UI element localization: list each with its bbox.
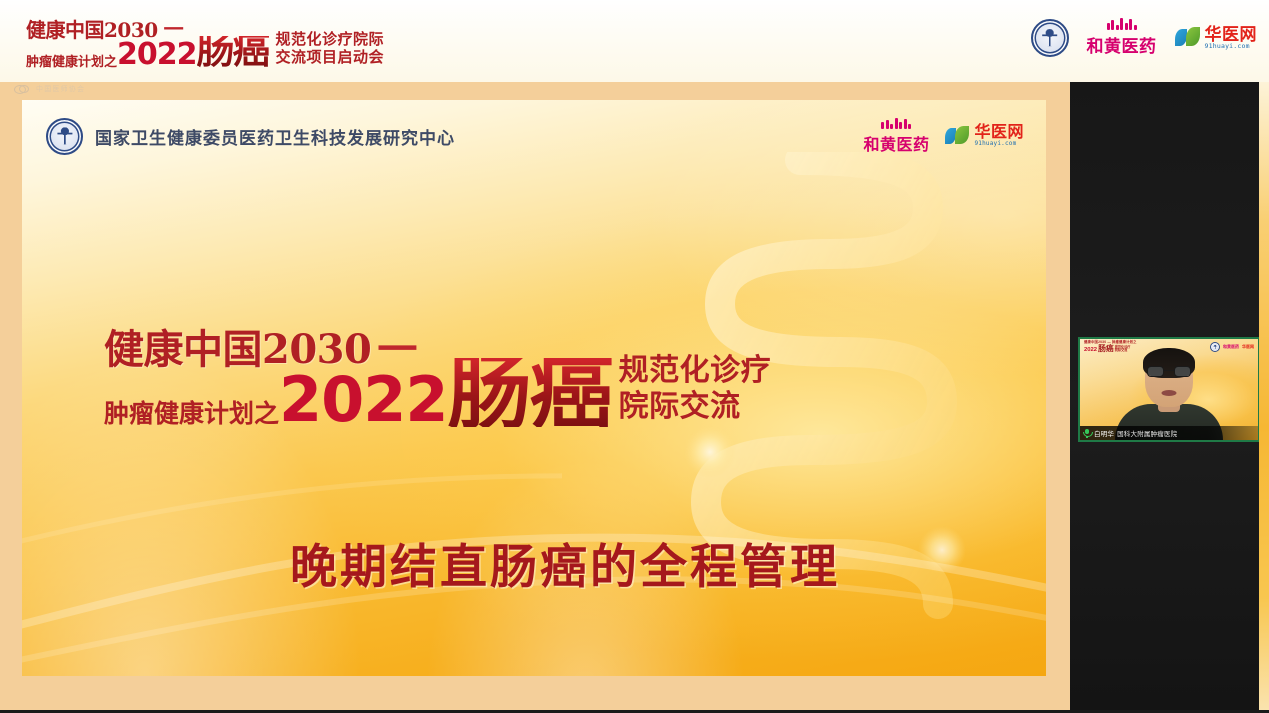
nhc-emblem-icon (1031, 19, 1069, 57)
speaker-mouth (1162, 390, 1177, 396)
video-banner-keyword: 肠癌 (1098, 345, 1114, 353)
sidebar-accent-strip (1259, 82, 1269, 710)
huayi-leaf-icon (945, 126, 970, 147)
wordmark-sub1: 规范化诊疗院际 (276, 31, 385, 49)
screenshare-stage[interactable]: 中国医师协会 (0, 82, 1070, 710)
hutchmed-bars-icon (881, 118, 911, 129)
wordmark-year: 2022 (117, 42, 197, 68)
video-banner-year: 2022 (1084, 347, 1097, 353)
glasses-icon (1147, 366, 1191, 378)
webinar-player: 健康中国2030 一 肿瘤健康计划之 2022 肠癌 规范化诊疗院际 交流项目启… (0, 0, 1269, 713)
wordmark-line2: 肿瘤健康计划之 (26, 55, 117, 68)
wordmark-keyword: 肠癌 (197, 36, 269, 67)
huayi-logo: 华医网 91huayi.com (1175, 26, 1258, 50)
nhc-emblem-icon (46, 118, 83, 155)
participant-video-tile[interactable]: 健康中国2030 — 肿瘤健康计划之 2022 肠癌 规范化诊疗 院际交流 (1078, 337, 1260, 442)
huayi-url-label: 91huayi.com (974, 141, 1024, 147)
video-huayi-label: 华医网 (1242, 344, 1254, 350)
slide-wordmark-sub1: 规范化诊疗 (619, 353, 772, 390)
hutchmed-logo: 和黄医药 (863, 118, 929, 155)
stage-watermark-label: 中国医师协会 (36, 84, 85, 94)
mic-on-icon[interactable] (1083, 428, 1091, 438)
huayi-label: 华医网 (974, 125, 1024, 141)
slide-wordmark-year: 2022 (279, 374, 448, 427)
stage-watermark: 中国医师协会 (14, 84, 85, 94)
video-sidebar: 健康中国2030 — 肿瘤健康计划之 2022 肠癌 规范化诊疗 院际交流 (1070, 82, 1269, 710)
participant-name-bar: 白明华 国科大附属肿瘤医院 (1080, 426, 1258, 440)
huayi-url-label: 91huayi.com (1205, 43, 1258, 50)
huayi-leaf-icon (1175, 27, 1201, 49)
slide-event-wordmark: 健康中国2030 一 肿瘤健康计划之 2022 肠癌 规范化诊疗 院际交流 (104, 330, 771, 427)
hutchmed-label: 和黄医药 (1087, 32, 1157, 57)
huayi-logo: 华医网 91huayi.com (945, 125, 1024, 147)
slide-wordmark-keyword: 肠癌 (448, 358, 612, 427)
slide-topic-title: 晚期结直肠癌的全程管理 (290, 528, 840, 597)
slide-logo-group: 和黄医药 华医网 91huayi.com (863, 118, 1024, 155)
video-hutchmed-label: 和黄医药 (1223, 344, 1239, 350)
hutchmed-label: 和黄医药 (863, 131, 929, 155)
cloud-icon (14, 85, 29, 94)
hutchmed-logo: 和黄医药 (1087, 18, 1157, 57)
participant-name: 白明华 (1094, 428, 1114, 438)
event-wordmark: 健康中国2030 一 肿瘤健康计划之 2022 肠癌 规范化诊疗院际 交流项目启… (26, 20, 384, 68)
slide-organization: 国家卫生健康委员医药卫生科技发展研究中心 (46, 118, 455, 155)
player-body: 中国医师协会 (0, 82, 1269, 710)
slide-header: 国家卫生健康委员医药卫生科技发展研究中心 和黄医药 (22, 114, 1046, 158)
wordmark-sub2: 交流项目启动会 (276, 49, 385, 67)
participant-organization: 国科大附属肿瘤医院 (1117, 428, 1177, 438)
banner-logo-group: 和黄医药 华医网 91huayi.com (1031, 18, 1258, 57)
slide-wordmark-line2: 肿瘤健康计划之 (104, 402, 279, 427)
hutchmed-bars-icon (1107, 18, 1137, 30)
presentation-slide: 国家卫生健康委员医药卫生科技发展研究中心 和黄医药 (22, 100, 1046, 676)
slide-wordmark-sub2: 院际交流 (619, 389, 772, 426)
huayi-label: 华医网 (1205, 26, 1258, 43)
top-banner: 健康中国2030 一 肿瘤健康计划之 2022 肠癌 规范化诊疗院际 交流项目启… (0, 0, 1269, 82)
slide-organization-label: 国家卫生健康委员医药卫生科技发展研究中心 (95, 124, 455, 149)
